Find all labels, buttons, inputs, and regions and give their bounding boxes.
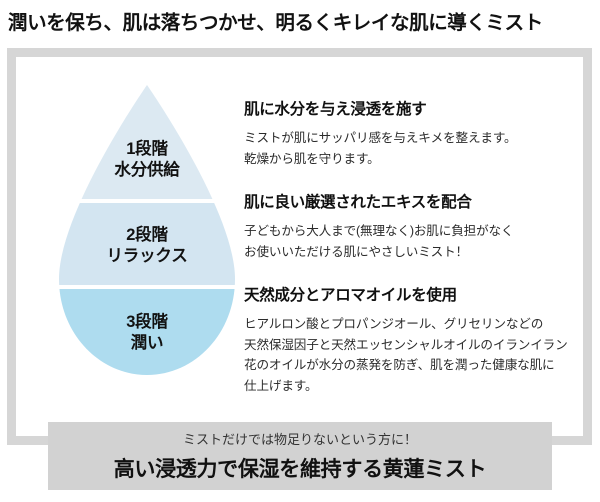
drop-name-label-2: リラックス [57, 246, 237, 267]
feature-body-1-line-1: ミストが肌にサッパリ感を与えキメを整えます。 [244, 128, 584, 149]
drop-name-label-1: 水分供給 [57, 160, 237, 181]
footer-headline: 高い浸透力で保湿を維持する黄蓮ミスト [114, 453, 487, 483]
content-panel: 1段階 水分供給 2段階 リラックス 3段階 潤い 肌に水分を与え浸透を施す ミ… [7, 48, 592, 445]
feature-section-list: 肌に水分を与え浸透を施す ミストが肌にサッパリ感を与えキメを整えます。 乾燥から… [244, 97, 584, 396]
feature-body-3: ヒアルロン酸とプロパンジオール、グリセリンなどの 天然保湿因子と天然エッセンシャ… [244, 314, 584, 396]
page-title-bar: 潤いを保ち、肌は落ちつかせ、明るくキレイな肌に導くミスト [0, 0, 600, 40]
footer-subtitle: ミストだけでは物足りないという方に！ [183, 429, 417, 448]
feature-heading-2: 肌に良い厳選されたエキスを配合 [244, 190, 584, 212]
drop-step-label-1: 1段階 [57, 139, 237, 160]
feature-body-1-line-2: 乾燥から肌を守ります。 [244, 149, 584, 170]
feature-heading-1: 肌に水分を与え浸透を施す [244, 97, 584, 119]
feature-section-1: 肌に水分を与え浸透を施す ミストが肌にサッパリ感を与えキメを整えます。 乾燥から… [244, 97, 584, 169]
feature-body-3-line-2: 天然保湿因子と天然エッセンシャルオイルのイランイラン [244, 335, 584, 356]
feature-body-1: ミストが肌にサッパリ感を与えキメを整えます。 乾燥から肌を守ります。 [244, 128, 584, 169]
feature-body-2-line-1: 子どもから大人まで(無理なく)お肌に負担がなく [244, 221, 584, 242]
three-stage-water-drop: 1段階 水分供給 2段階 リラックス 3段階 潤い [57, 83, 237, 377]
feature-heading-3: 天然成分とアロマオイルを使用 [244, 283, 584, 305]
feature-section-2: 肌に良い厳選されたエキスを配合 子どもから大人まで(無理なく)お肌に負担がなく … [244, 190, 584, 262]
drop-label-stage-2: 2段階 リラックス [57, 225, 237, 267]
footer-banner: ミストだけでは物足りないという方に！ 高い浸透力で保湿を維持する黄蓮ミスト [48, 422, 552, 490]
drop-step-label-2: 2段階 [57, 225, 237, 246]
feature-body-2: 子どもから大人まで(無理なく)お肌に負担がなく お使いいただける肌にやさしいミス… [244, 221, 584, 262]
feature-body-3-line-3: 花のオイルが水分の蒸発を防ぎ、肌を潤った健康な肌に [244, 355, 584, 376]
drop-label-stage-3: 3段階 潤い [57, 312, 237, 354]
drop-label-stage-1: 1段階 水分供給 [57, 139, 237, 181]
drop-name-label-3: 潤い [57, 333, 237, 354]
feature-body-2-line-2: お使いいただける肌にやさしいミスト！ [244, 242, 584, 263]
drop-step-label-3: 3段階 [57, 312, 237, 333]
feature-body-3-line-4: 仕上げます。 [244, 376, 584, 397]
page-title: 潤いを保ち、肌は落ちつかせ、明るくキレイな肌に導くミスト [8, 6, 543, 35]
feature-body-3-line-1: ヒアルロン酸とプロパンジオール、グリセリンなどの [244, 314, 584, 335]
feature-section-3: 天然成分とアロマオイルを使用 ヒアルロン酸とプロパンジオール、グリセリンなどの … [244, 283, 584, 396]
